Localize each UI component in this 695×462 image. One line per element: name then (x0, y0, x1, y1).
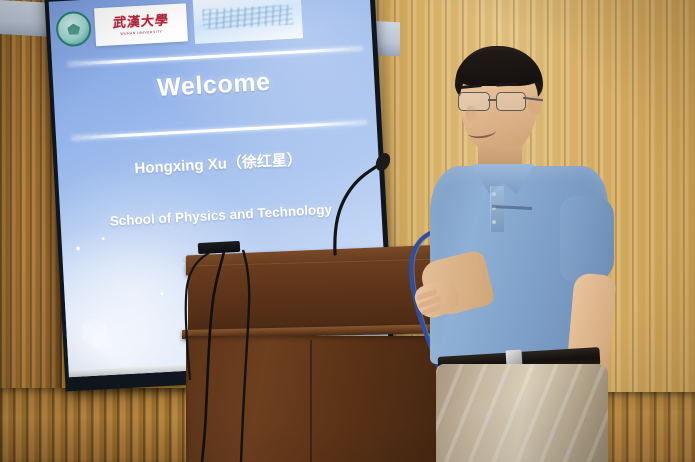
eyeglass-lens (496, 92, 526, 111)
slide-rule-bottom (72, 121, 367, 140)
lectern-upper-panel (188, 258, 440, 333)
university-seal-icon (55, 10, 92, 47)
slide-spark (161, 292, 164, 295)
presenter-sleeve (560, 196, 614, 282)
presenter-shirt-button (492, 220, 496, 224)
presenter-trousers (436, 364, 608, 462)
eyeglass-bridge (488, 99, 497, 101)
slide-title: Welcome (53, 62, 375, 108)
university-name-cn: 武漢大學 (112, 14, 169, 30)
university-logo-banner: 武漢大學 WUHAN UNIVERSITY (94, 3, 188, 46)
gooseneck-microphone (327, 152, 397, 256)
slide-spark (101, 237, 104, 240)
lectern-seam (310, 340, 312, 462)
podium-control-box (198, 241, 241, 254)
lecture-photo: 武漢大學 WUHAN UNIVERSITY Welcome Hongxing X… (0, 0, 695, 462)
presenter-shirt-button (492, 192, 496, 196)
presenter (420, 46, 625, 462)
wooden-lectern (180, 232, 448, 462)
lectern-front-panel (186, 336, 438, 462)
shield-watermark-icon (82, 318, 108, 350)
campus-photo-panel (193, 0, 303, 44)
